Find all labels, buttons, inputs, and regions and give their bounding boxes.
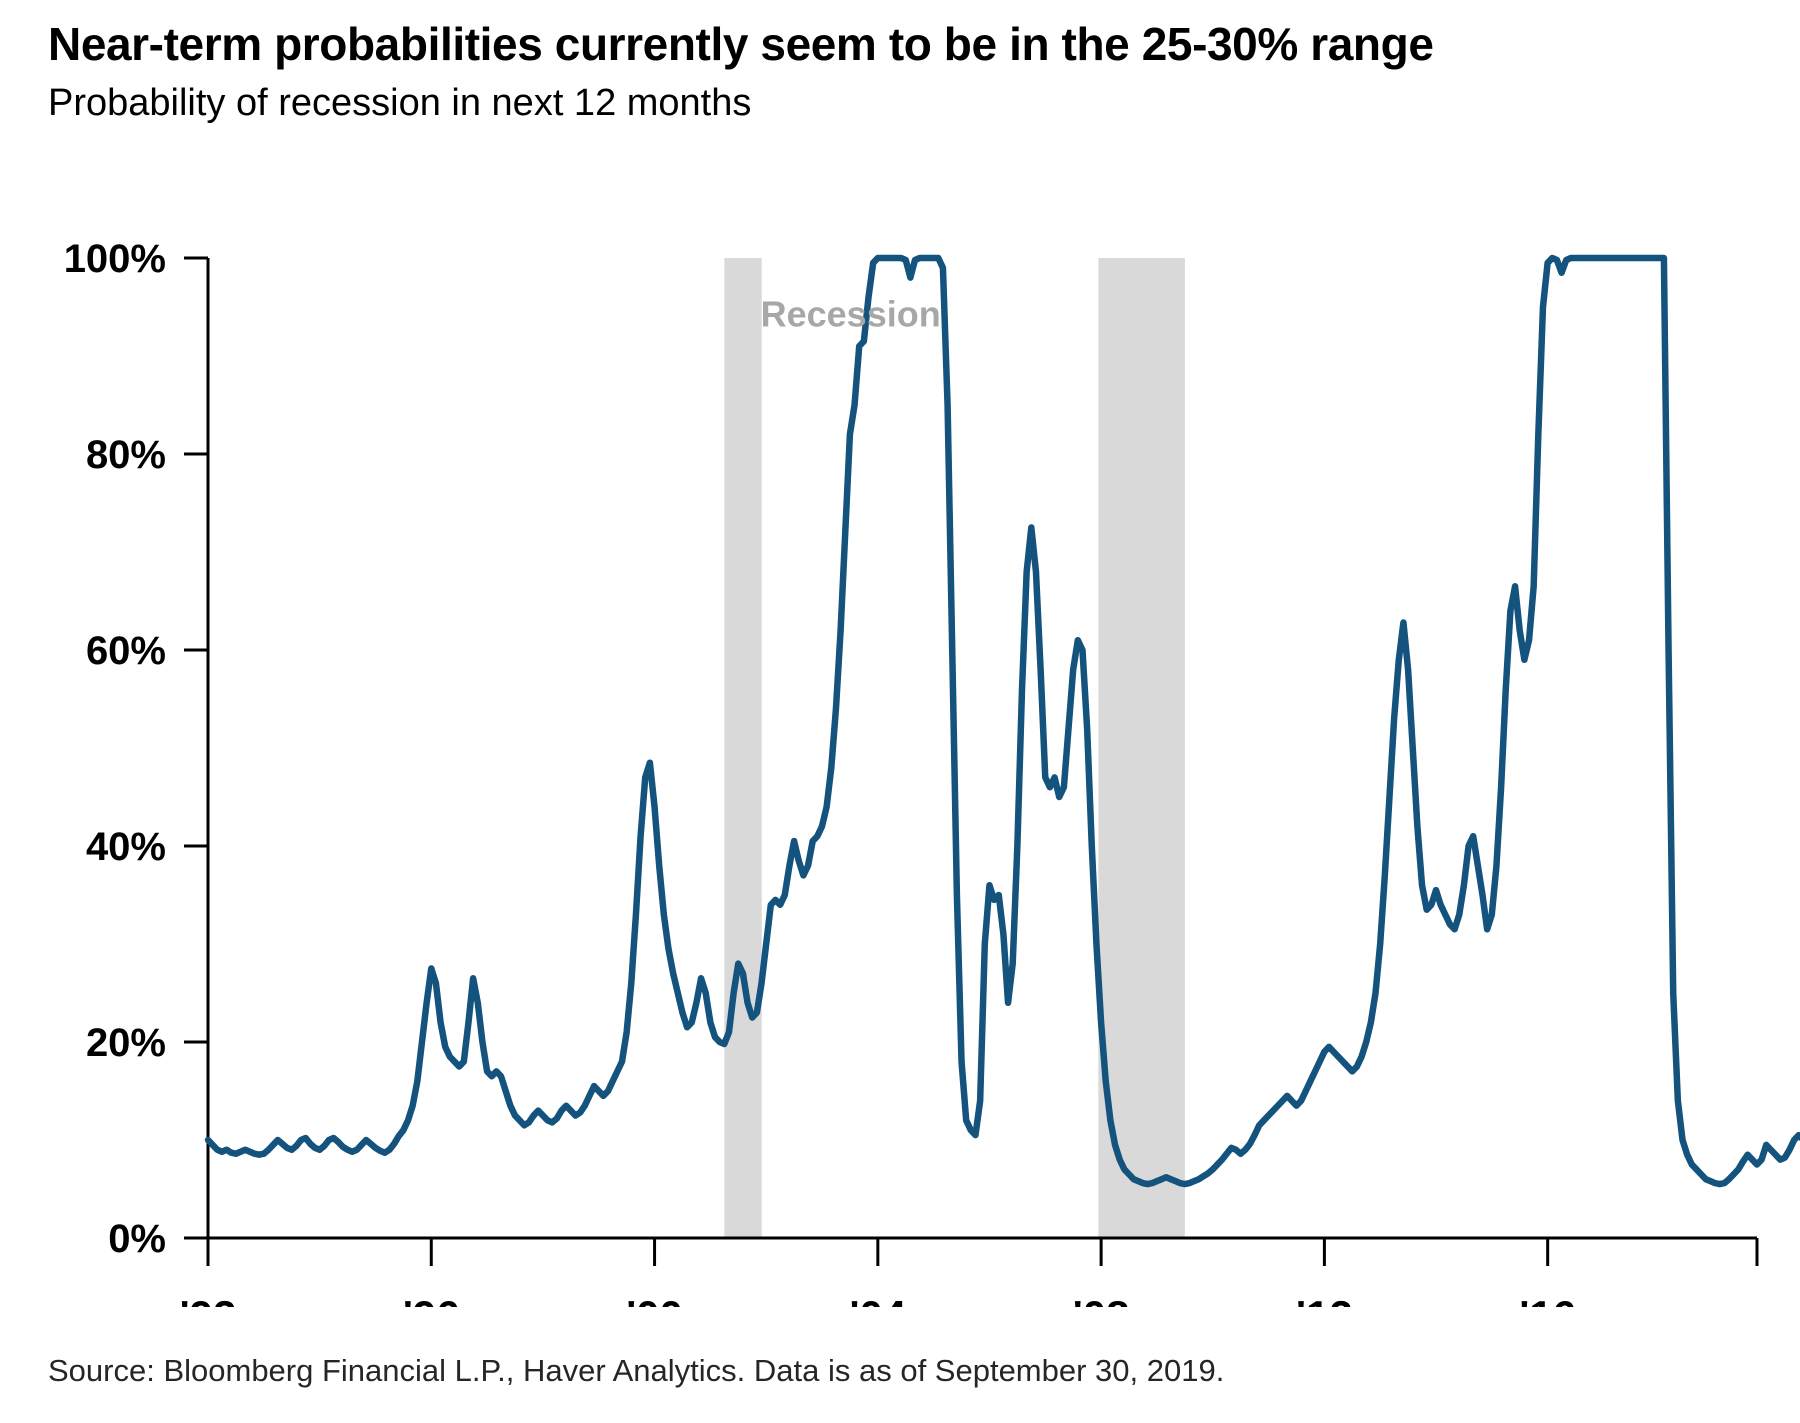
y-axis-tick-label: 100% [64,237,166,281]
y-axis-tick-label: 40% [86,825,166,869]
chart-header: Near-term probabilities currently seem t… [48,18,1748,127]
chart-subtitle: Probability of recession in next 12 mont… [48,81,1748,127]
x-axis-tick-label: '16 [1519,1292,1576,1307]
chart-plot-area: 0%20%40%60%80%100% '92'96'00'04'08'12'16… [0,232,1800,1307]
x-axis-tick-label: '96 [403,1292,460,1307]
recession-probability-line [208,258,1800,1184]
recession-shaded-band [1098,258,1185,1238]
source-note: Source: Bloomberg Financial L.P., Haver … [48,1352,1748,1389]
chart-page: Near-term probabilities currently seem t… [0,0,1800,1423]
x-axis-tick-label: '92 [180,1292,237,1307]
chart-footer: Source: Bloomberg Financial L.P., Haver … [48,1352,1748,1389]
recession-probability-line-chart: 0%20%40%60%80%100% '92'96'00'04'08'12'16… [0,232,1800,1307]
x-axis-tick-label: '12 [1296,1292,1353,1307]
y-axis-tick-label: 20% [86,1021,166,1065]
x-axis-tick-label: '04 [849,1292,906,1307]
x-axis-tick-labels: '92'96'00'04'08'12'16 [180,1238,1576,1307]
recession-shaded-band [724,258,761,1238]
annotations-group: Recession [761,294,941,335]
recession-annotation-label: Recession [761,294,941,335]
y-axis-tick-label: 60% [86,629,166,673]
page-title: Near-term probabilities currently seem t… [48,18,1468,71]
x-axis-tick-label: '08 [1073,1292,1130,1307]
data-series-group [208,258,1800,1184]
y-axis-tick-labels: 0%20%40%60%80%100% [64,237,208,1261]
axes-group [208,258,1757,1266]
y-axis-tick-label: 0% [108,1217,166,1261]
x-axis-tick-label: '00 [626,1292,683,1307]
y-axis-tick-label: 80% [86,433,166,477]
